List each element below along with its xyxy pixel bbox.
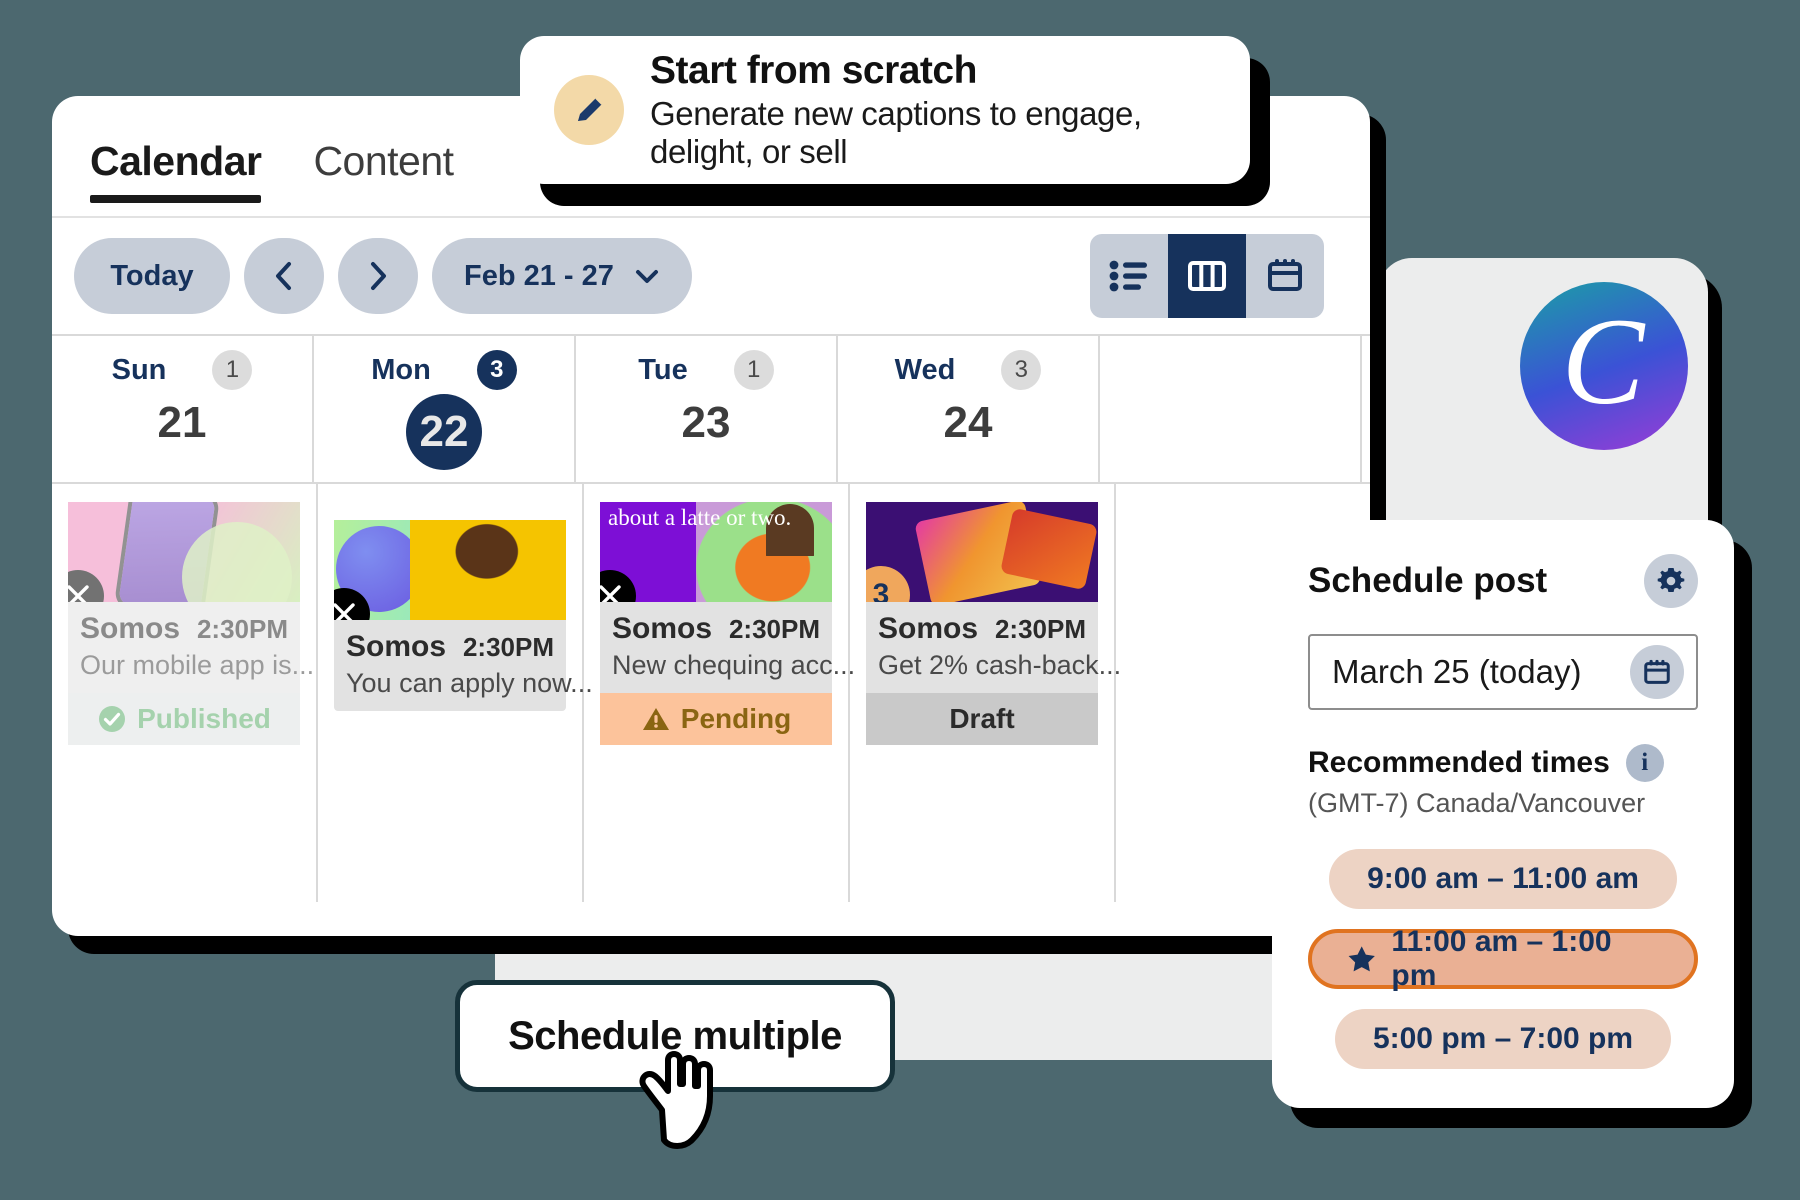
time-slot-option[interactable]: 9:00 am – 11:00 am — [1329, 849, 1677, 909]
status-badge-draft: Draft — [866, 693, 1098, 745]
calendar-icon — [1642, 657, 1672, 687]
time-slot-label: 9:00 am – 11:00 am — [1367, 862, 1639, 896]
prev-week-button[interactable] — [244, 238, 324, 314]
star-icon — [1346, 943, 1377, 975]
post-body: Somos 2:30PM New chequing acc... — [600, 602, 832, 693]
post-body: Somos 2:30PM Our mobile app is... — [68, 602, 300, 693]
day-number: 24 — [838, 398, 1098, 448]
day-cell-sun[interactable]: Somos 2:30PM Our mobile app is... Publis… — [52, 484, 318, 902]
date-picker-button[interactable] — [1630, 645, 1684, 699]
thumbnail-text: about a latte or two. — [608, 506, 791, 531]
status-label: Draft — [949, 703, 1014, 735]
day-cell-mon[interactable]: Somos 2:30PM You can apply now... — [318, 484, 584, 902]
date-range-selector[interactable]: Feb 21 - 27 — [432, 238, 692, 314]
day-name-label: Mon — [371, 354, 431, 387]
recommended-times-title: Recommended times — [1308, 746, 1610, 780]
post-thumbnail — [334, 520, 566, 620]
view-toggle-group — [1090, 234, 1324, 318]
day-post-count: 3 — [477, 350, 517, 390]
multi-post-count-badge: 3 — [866, 566, 910, 602]
post-meta: Somos 2:30PM — [346, 630, 554, 664]
day-body-row: Somos 2:30PM Our mobile app is... Publis… — [52, 482, 1370, 902]
view-month-button[interactable] — [1246, 234, 1324, 318]
day-number: 23 — [576, 398, 836, 448]
post-meta: Somos 2:30PM — [878, 612, 1086, 646]
pencil-icon — [554, 75, 624, 145]
pointing-hand-cursor — [630, 1040, 730, 1170]
post-caption: New chequing acc... — [612, 650, 820, 681]
post-thumbnail: about a latte or two. — [600, 502, 832, 602]
chevron-right-icon — [365, 259, 391, 293]
gear-icon — [1655, 565, 1687, 597]
chevron-down-icon — [634, 268, 660, 284]
day-name-row: Mon 3 — [314, 336, 574, 390]
view-list-button[interactable] — [1090, 234, 1168, 318]
calendar-window: Calendar Content Today Feb 21 - 27 — [52, 96, 1370, 936]
start-from-scratch-subtitle: Generate new captions to engage, delight… — [650, 95, 1216, 171]
schedule-post-title: Schedule post — [1308, 561, 1547, 601]
schedule-post-header: Schedule post — [1308, 554, 1698, 608]
day-name-label: Wed — [895, 354, 956, 387]
day-post-count: 3 — [1001, 350, 1041, 390]
post-thumbnail — [68, 502, 300, 602]
status-label: Published — [137, 703, 271, 735]
columns-icon — [1187, 258, 1227, 294]
status-badge-published: Published — [68, 693, 300, 745]
list-icon — [1109, 259, 1149, 293]
day-name-row: Tue 1 — [576, 336, 836, 390]
post-card[interactable]: Somos 2:30PM You can apply now... — [334, 520, 566, 711]
post-author: Somos — [878, 612, 978, 646]
x-icon — [600, 570, 636, 602]
view-columns-button[interactable] — [1168, 234, 1246, 318]
day-name-label: Tue — [638, 354, 687, 387]
post-time: 2:30PM — [729, 614, 820, 645]
day-name-row: Sun 1 — [52, 336, 312, 390]
date-range-label: Feb 21 - 27 — [464, 260, 614, 293]
schedule-date-value: March 25 (today) — [1332, 653, 1581, 691]
post-time: 2:30PM — [463, 632, 554, 663]
timezone-label: (GMT-7) Canada/Vancouver — [1308, 788, 1698, 819]
post-meta: Somos 2:30PM — [612, 612, 820, 646]
post-caption: You can apply now... — [346, 668, 554, 699]
post-caption: Get 2% cash-back... — [878, 650, 1086, 681]
today-button[interactable]: Today — [74, 238, 230, 314]
time-slot-option-recommended[interactable]: 11:00 am – 1:00 pm — [1308, 929, 1698, 989]
canva-logo: C — [1520, 282, 1688, 450]
day-number: 21 — [52, 398, 312, 448]
settings-button[interactable] — [1644, 554, 1698, 608]
recommended-times-list: 9:00 am – 11:00 am 11:00 am – 1:00 pm 5:… — [1308, 849, 1698, 1069]
post-body: Somos 2:30PM You can apply now... — [334, 620, 566, 711]
calendar-toolbar: Today Feb 21 - 27 — [52, 218, 1370, 336]
day-cell-wed[interactable]: 3 Somos 2:30PM Get 2% cash-back... Draft — [850, 484, 1116, 902]
post-author: Somos — [346, 630, 446, 664]
day-header-tue[interactable]: Tue 1 23 — [576, 336, 838, 482]
time-slot-option[interactable]: 5:00 pm – 7:00 pm — [1335, 1009, 1671, 1069]
post-meta: Somos 2:30PM — [80, 612, 288, 646]
post-card[interactable]: 3 Somos 2:30PM Get 2% cash-back... Draft — [866, 502, 1098, 745]
warning-triangle-icon — [641, 705, 671, 733]
day-post-count: 1 — [212, 350, 252, 390]
schedule-post-panel: Schedule post March 25 (today) Recommend… — [1272, 520, 1734, 1108]
day-header-mon[interactable]: Mon 3 22 — [314, 336, 576, 482]
time-slot-label: 11:00 am – 1:00 pm — [1391, 925, 1660, 993]
post-author: Somos — [612, 612, 712, 646]
day-cell-tue[interactable]: about a latte or two. Somos 2:30PM New c… — [584, 484, 850, 902]
tab-calendar[interactable]: Calendar — [90, 138, 261, 203]
status-badge-pending: Pending — [600, 693, 832, 745]
info-icon[interactable]: i — [1626, 744, 1664, 782]
post-card[interactable]: Somos 2:30PM Our mobile app is... Publis… — [68, 502, 300, 745]
chevron-left-icon — [271, 259, 297, 293]
tab-calendar-label: Calendar — [90, 138, 261, 185]
post-card[interactable]: about a latte or two. Somos 2:30PM New c… — [600, 502, 832, 745]
x-icon — [68, 570, 104, 602]
post-thumbnail: 3 — [866, 502, 1098, 602]
start-from-scratch-title: Start from scratch — [650, 49, 1216, 93]
day-post-count: 1 — [734, 350, 774, 390]
post-caption: Our mobile app is... — [80, 650, 288, 681]
time-slot-label: 5:00 pm – 7:00 pm — [1373, 1022, 1633, 1056]
tab-content-label: Content — [313, 138, 453, 185]
post-time: 2:30PM — [995, 614, 1086, 645]
day-name-row: Wed 3 — [838, 336, 1098, 390]
post-body: Somos 2:30PM Get 2% cash-back... — [866, 602, 1098, 693]
day-header-wed[interactable]: Wed 3 24 — [838, 336, 1100, 482]
day-header-thu[interactable] — [1100, 336, 1362, 482]
check-circle-icon — [97, 704, 127, 734]
x-icon — [334, 588, 370, 620]
start-from-scratch-text: Start from scratch Generate new captions… — [650, 49, 1216, 171]
status-label: Pending — [681, 703, 791, 735]
post-time: 2:30PM — [197, 614, 288, 645]
post-author: Somos — [80, 612, 180, 646]
recommended-times-header: Recommended times i — [1308, 744, 1698, 782]
canva-logo-letter: C — [1562, 300, 1645, 424]
tab-content[interactable]: Content — [313, 138, 453, 203]
tab-active-underline — [90, 195, 261, 203]
start-from-scratch-card[interactable]: Start from scratch Generate new captions… — [520, 36, 1250, 184]
day-name-label: Sun — [112, 354, 167, 387]
day-header-sun[interactable]: Sun 1 21 — [52, 336, 314, 482]
day-number-today: 22 — [406, 394, 482, 470]
schedule-date-field[interactable]: March 25 (today) — [1308, 634, 1698, 710]
calendar-icon — [1265, 257, 1305, 295]
day-header-row: Sun 1 21 Mon 3 22 Tue 1 23 Wed 3 24 — [52, 336, 1370, 482]
next-week-button[interactable] — [338, 238, 418, 314]
